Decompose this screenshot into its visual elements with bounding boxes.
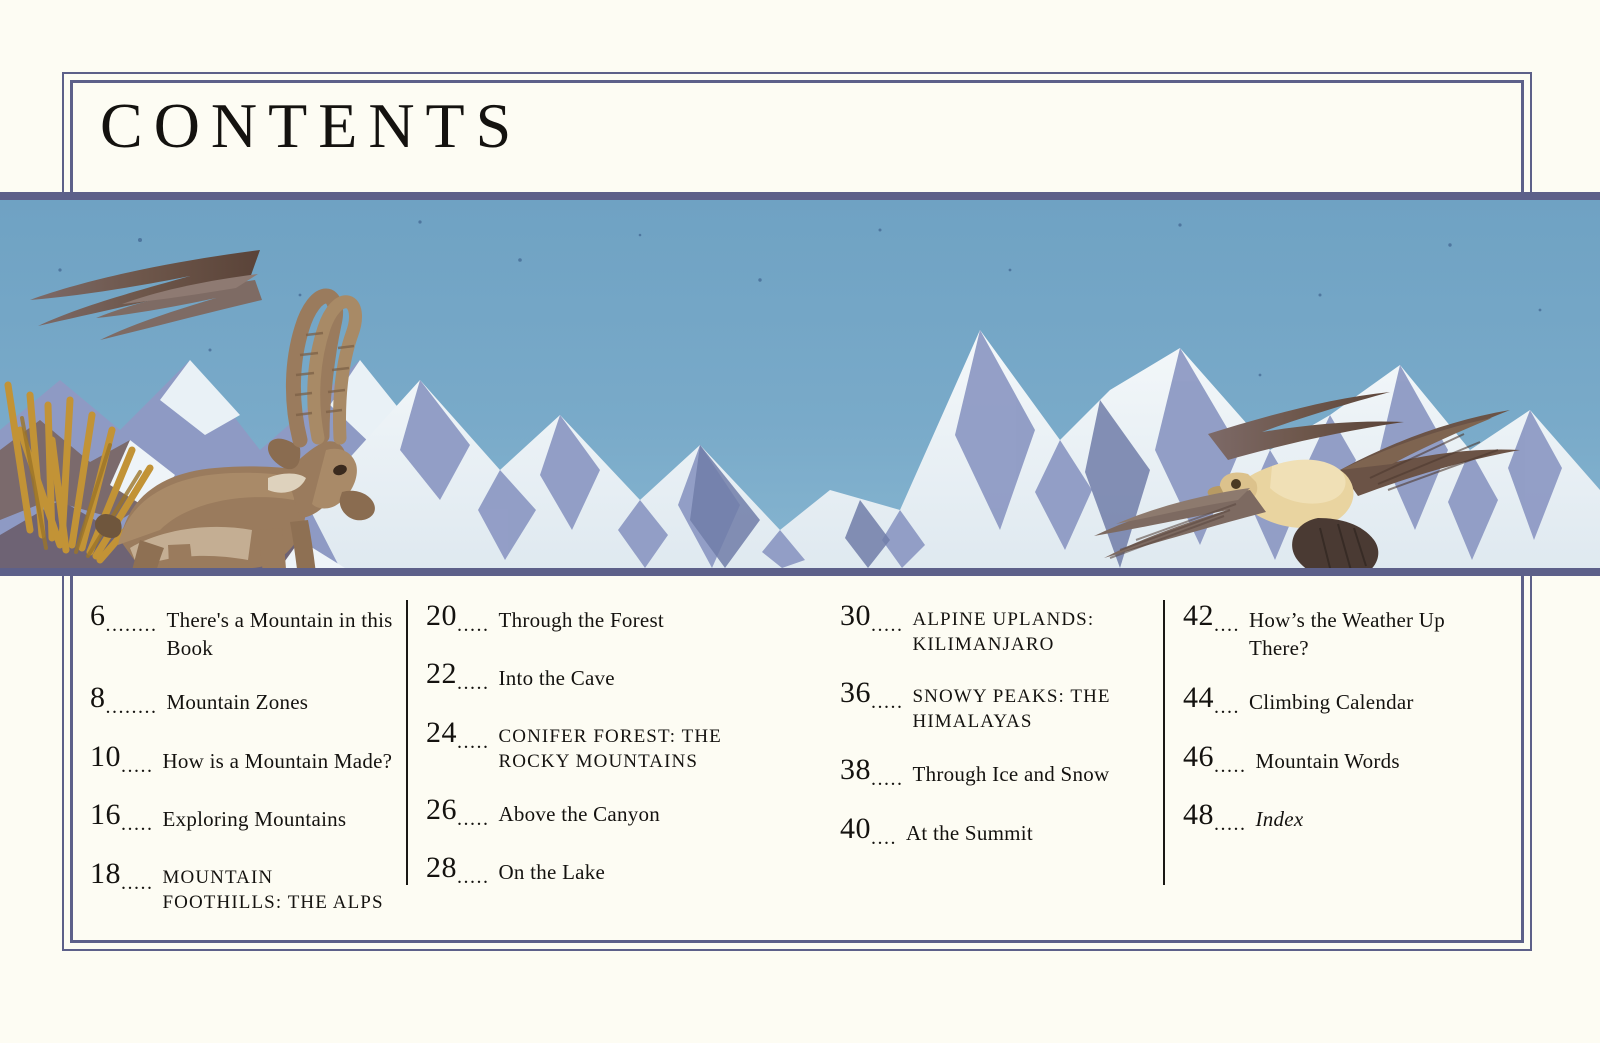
toc-page-number: 6	[90, 600, 106, 632]
toc-page-number: 20	[426, 600, 457, 632]
toc-entry-label: Mountain Zones	[158, 689, 396, 717]
toc-dot-leader: .....	[121, 753, 154, 779]
toc-entry-label: ALPINE UPLANDS: KILIMANJARO	[904, 607, 1161, 657]
toc-dot-leader: ........	[106, 694, 158, 720]
toc-entry[interactable]: 30.....ALPINE UPLANDS: KILIMANJARO	[840, 600, 1160, 657]
toc-entry-label: How is a Mountain Made?	[154, 748, 396, 776]
toc-dot-leader: .....	[457, 670, 490, 696]
toc-page-number: 10	[90, 741, 121, 773]
toc-entry[interactable]: 20.....Through the Forest	[426, 600, 746, 638]
toc-entry[interactable]: 18.....MOUNTAIN FOOTHILLS: THE ALPS	[90, 858, 395, 915]
toc-entry-label: Climbing Calendar	[1240, 689, 1503, 717]
toc-dot-leader: ....	[871, 825, 897, 851]
toc-page-number: 48	[1183, 799, 1214, 831]
toc-entry-label: On the Lake	[490, 859, 747, 887]
toc-entry-label: How’s the Weather Up There?	[1240, 607, 1503, 662]
toc-entry[interactable]: 6........There's a Mountain in this Book	[90, 600, 395, 662]
toc-entry[interactable]: 36.....SNOWY PEAKS: THE HIMALAYAS	[840, 677, 1160, 734]
toc-page-number: 40	[840, 813, 871, 845]
toc-page-number: 36	[840, 677, 871, 709]
toc-dot-leader: .....	[457, 729, 490, 755]
toc-entry[interactable]: 22.....Into the Cave	[426, 658, 746, 696]
mountain-illustration-band	[0, 192, 1600, 576]
toc-entry[interactable]: 10.....How is a Mountain Made?	[90, 741, 395, 779]
toc-dot-leader: .....	[457, 864, 490, 890]
toc-page-number: 24	[426, 717, 457, 749]
toc-entry-label: MOUNTAIN FOOTHILLS: THE ALPS	[154, 865, 396, 915]
toc-entry-label: Mountain Words	[1247, 748, 1504, 776]
toc-dot-leader: ....	[1214, 612, 1240, 638]
toc-dot-leader: .....	[457, 806, 490, 832]
toc-entry[interactable]: 46.....Mountain Words	[1183, 741, 1503, 779]
toc-page-number: 26	[426, 794, 457, 826]
toc-page-number: 42	[1183, 600, 1214, 632]
toc-entry[interactable]: 42....How’s the Weather Up There?	[1183, 600, 1503, 662]
toc-dot-leader: .....	[871, 689, 904, 715]
toc-entry-label: Index	[1247, 806, 1504, 834]
toc-page-number: 28	[426, 852, 457, 884]
toc-column-2: 20.....Through the Forest22.....Into the…	[406, 600, 746, 885]
toc-column-1: 6........There's a Mountain in this Book…	[90, 600, 395, 935]
toc-entry-label: Above the Canyon	[490, 801, 747, 829]
toc-entry-label: Through Ice and Snow	[904, 761, 1161, 789]
toc-dot-leader: .....	[457, 612, 490, 638]
toc-column-3: 30.....ALPINE UPLANDS: KILIMANJARO36....…	[840, 600, 1160, 871]
toc-dot-leader: ....	[1214, 694, 1240, 720]
toc-entry[interactable]: 44....Climbing Calendar	[1183, 682, 1503, 720]
toc-page-number: 22	[426, 658, 457, 690]
toc-dot-leader: .....	[121, 870, 154, 896]
toc-page-number: 18	[90, 858, 121, 890]
toc-entry-label: There's a Mountain in this Book	[158, 607, 396, 662]
toc-dot-leader: ........	[106, 612, 158, 638]
toc-dot-leader: .....	[121, 811, 154, 837]
table-of-contents: 6........There's a Mountain in this Book…	[0, 600, 1600, 930]
toc-entry[interactable]: 40....At the Summit	[840, 813, 1160, 851]
toc-entry[interactable]: 48.....Index	[1183, 799, 1503, 837]
mountain-panorama-artwork	[0, 200, 1600, 568]
toc-page-number: 44	[1183, 682, 1214, 714]
toc-column-4: 42....How’s the Weather Up There?44....C…	[1163, 600, 1503, 885]
toc-dot-leader: .....	[871, 612, 904, 638]
toc-page-number: 46	[1183, 741, 1214, 773]
toc-entry-label: At the Summit	[897, 820, 1160, 848]
toc-entry[interactable]: 8........Mountain Zones	[90, 682, 395, 720]
toc-entry[interactable]: 16.....Exploring Mountains	[90, 799, 395, 837]
page-title: CONTENTS	[100, 94, 522, 158]
toc-dot-leader: .....	[1214, 811, 1247, 837]
title-area: CONTENTS	[0, 72, 1600, 192]
toc-entry-label: SNOWY PEAKS: THE HIMALAYAS	[904, 684, 1161, 734]
toc-entry[interactable]: 28.....On the Lake	[426, 852, 746, 890]
toc-entry[interactable]: 38.....Through Ice and Snow	[840, 754, 1160, 792]
toc-entry[interactable]: 24.....CONIFER FOREST: THE ROCKY MOUNTAI…	[426, 717, 746, 774]
toc-entry-label: Through the Forest	[490, 607, 747, 635]
toc-entry[interactable]: 26.....Above the Canyon	[426, 794, 746, 832]
toc-dot-leader: .....	[871, 766, 904, 792]
toc-dot-leader: .....	[1214, 753, 1247, 779]
toc-entry-label: Exploring Mountains	[154, 806, 396, 834]
toc-entry-label: CONIFER FOREST: THE ROCKY MOUNTAINS	[490, 724, 747, 774]
toc-page-number: 38	[840, 754, 871, 786]
toc-page-number: 16	[90, 799, 121, 831]
toc-page-number: 8	[90, 682, 106, 714]
toc-entry-label: Into the Cave	[490, 665, 747, 693]
toc-page-number: 30	[840, 600, 871, 632]
